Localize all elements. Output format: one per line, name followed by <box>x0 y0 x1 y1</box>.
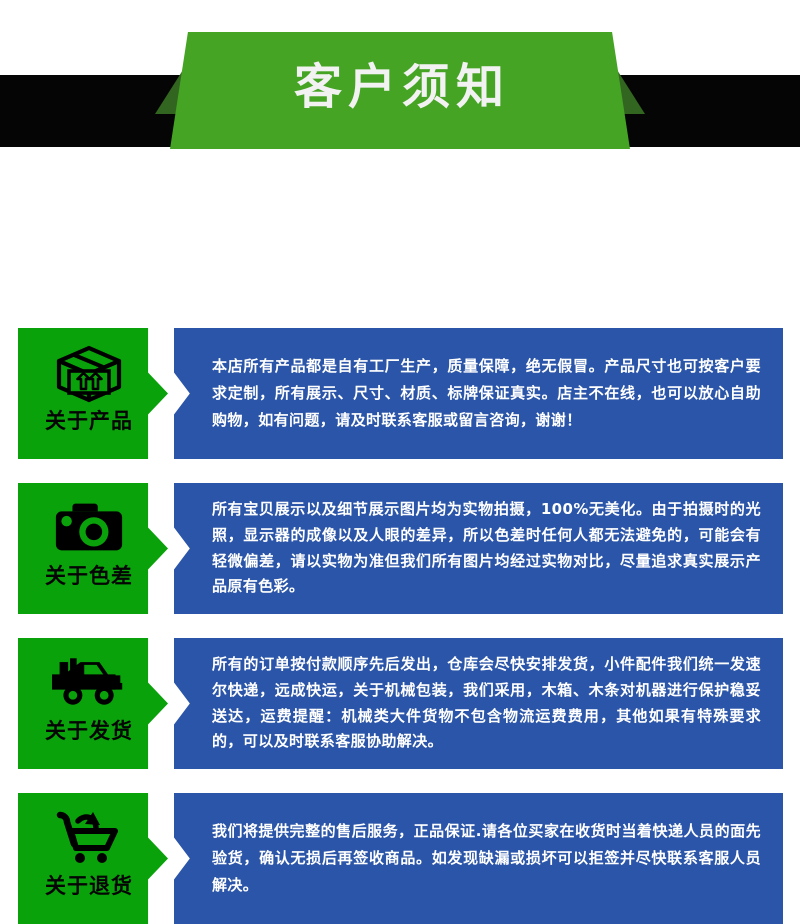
section-body-text: 所有宝贝展示以及细节展示图片均为实物拍摄，100%无美化。由于拍摄时的光照，显示… <box>174 497 783 600</box>
section-tile-shipping[interactable]: 关于发货 <box>18 638 168 769</box>
camera-icon <box>52 494 126 560</box>
section-panel-color: 所有宝贝展示以及细节展示图片均为实物拍摄，100%无美化。由于拍摄时的光照，显示… <box>174 483 783 614</box>
section-row: 关于发货 所有的订单按付款顺序先后发出，仓库会尽快安排发货，小件配件我们统一发速… <box>0 638 800 769</box>
forklift-truck-icon <box>52 649 126 715</box>
section-row: 关于产品 本店所有产品都是自有工厂生产，质量保障，绝无假冒。产品尺寸也可按客户要… <box>0 328 800 459</box>
section-tile-label: 关于产品 <box>45 411 133 432</box>
section-panel-product: 本店所有产品都是自有工厂生产，质量保障，绝无假冒。产品尺寸也可按客户要求定制，所… <box>174 328 783 459</box>
section-tile-color[interactable]: 关于色差 <box>18 483 168 614</box>
section-row: 关于退货 我们将提供完整的售后服务，正品保证.请各位买家在收货时当着快递人员的面… <box>0 793 800 924</box>
section-panel-shipping: 所有的订单按付款顺序先后发出，仓库会尽快安排发货，小件配件我们统一发速尔快递，远… <box>174 638 783 769</box>
section-tile-return[interactable]: 关于退货 <box>18 793 168 924</box>
section-panel-return: 我们将提供完整的售后服务，正品保证.请各位买家在收货时当着快递人员的面先验货，确… <box>174 793 783 924</box>
section-body-text: 我们将提供完整的售后服务，正品保证.请各位买家在收货时当着快递人员的面先验货，确… <box>174 818 783 900</box>
section-body-text: 本店所有产品都是自有工厂生产，质量保障，绝无假冒。产品尺寸也可按客户要求定制，所… <box>174 353 783 435</box>
section-tile-label: 关于发货 <box>45 721 133 742</box>
package-box-icon <box>52 339 126 405</box>
section-body-text: 所有的订单按付款顺序先后发出，仓库会尽快安排发货，小件配件我们统一发速尔快递，远… <box>174 652 783 755</box>
section-row: 关于色差 所有宝贝展示以及细节展示图片均为实物拍摄，100%无美化。由于拍摄时的… <box>0 483 800 614</box>
header-banner: 客户须知 <box>0 0 800 150</box>
section-tile-label: 关于退货 <box>45 876 133 897</box>
page-title: 客户须知 <box>294 63 510 111</box>
section-tile-product[interactable]: 关于产品 <box>18 328 168 459</box>
banner-plate: 客户须知 <box>170 32 630 149</box>
return-cart-icon <box>52 804 126 870</box>
section-tile-label: 关于色差 <box>45 566 133 587</box>
